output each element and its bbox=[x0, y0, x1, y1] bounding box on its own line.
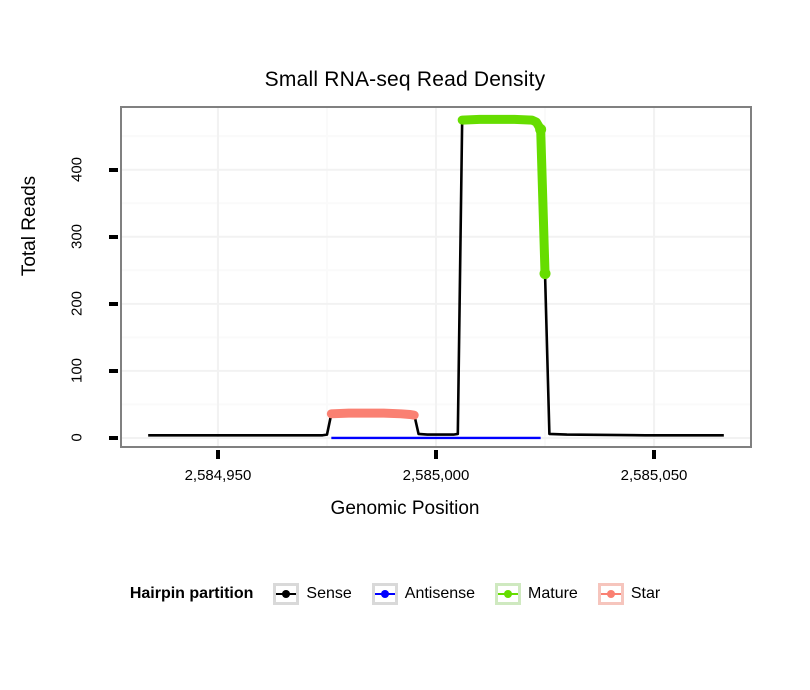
legend-key-dot bbox=[607, 590, 615, 598]
y-tick-mark bbox=[109, 436, 118, 440]
x-tick-label: 2,584,950 bbox=[158, 467, 278, 484]
legend-item-antisense[interactable]: Antisense bbox=[372, 583, 489, 605]
legend-key-icon bbox=[598, 583, 624, 605]
x-tick-label: 2,585,050 bbox=[594, 467, 714, 484]
series-line-mature bbox=[462, 119, 545, 273]
page-title: Small RNA-seq Read Density bbox=[0, 68, 810, 92]
legend-key-dot bbox=[504, 590, 512, 598]
legend-key-icon bbox=[495, 583, 521, 605]
x-tick-mark bbox=[652, 450, 656, 459]
x-tick-label: 2,585,000 bbox=[376, 467, 496, 484]
series-line-star bbox=[331, 413, 414, 415]
legend-label: Sense bbox=[306, 585, 351, 603]
legend-item-sense[interactable]: Sense bbox=[273, 583, 365, 605]
legend-label: Mature bbox=[528, 585, 578, 603]
y-axis-title: Total Reads bbox=[19, 136, 41, 316]
y-tick-label: 100 bbox=[69, 347, 86, 393]
legend-item-mature[interactable]: Mature bbox=[495, 583, 592, 605]
plot-svg bbox=[122, 108, 750, 446]
y-tick-mark bbox=[109, 235, 118, 239]
legend-key-dot bbox=[381, 590, 389, 598]
x-tick-mark bbox=[216, 450, 220, 459]
legend: Hairpin partition SenseAntisenseMatureSt… bbox=[0, 583, 810, 605]
y-tick-label: 200 bbox=[69, 280, 86, 326]
y-tick-mark bbox=[109, 369, 118, 373]
legend-label: Star bbox=[631, 585, 660, 603]
y-tick-mark bbox=[109, 168, 118, 172]
legend-item-star[interactable]: Star bbox=[598, 583, 674, 605]
legend-entries: SenseAntisenseMatureStar bbox=[273, 583, 680, 605]
y-tick-label: 400 bbox=[69, 146, 86, 192]
x-tick-mark bbox=[434, 450, 438, 459]
y-tick-label: 0 bbox=[69, 414, 86, 460]
x-axis-title: Genomic Position bbox=[0, 498, 810, 520]
series-point-mature bbox=[540, 268, 551, 279]
series-point-mature bbox=[535, 124, 546, 135]
chart-figure: Small RNA-seq Read Density Total Reads G… bbox=[0, 0, 810, 690]
grid-major-lines bbox=[122, 108, 750, 446]
y-tick-label: 300 bbox=[69, 213, 86, 259]
legend-key-icon bbox=[273, 583, 299, 605]
legend-key-icon bbox=[372, 583, 398, 605]
plot-panel bbox=[120, 106, 752, 448]
legend-title: Hairpin partition bbox=[130, 585, 254, 603]
legend-label: Antisense bbox=[405, 585, 475, 603]
legend-key-dot bbox=[282, 590, 290, 598]
y-tick-mark bbox=[109, 302, 118, 306]
